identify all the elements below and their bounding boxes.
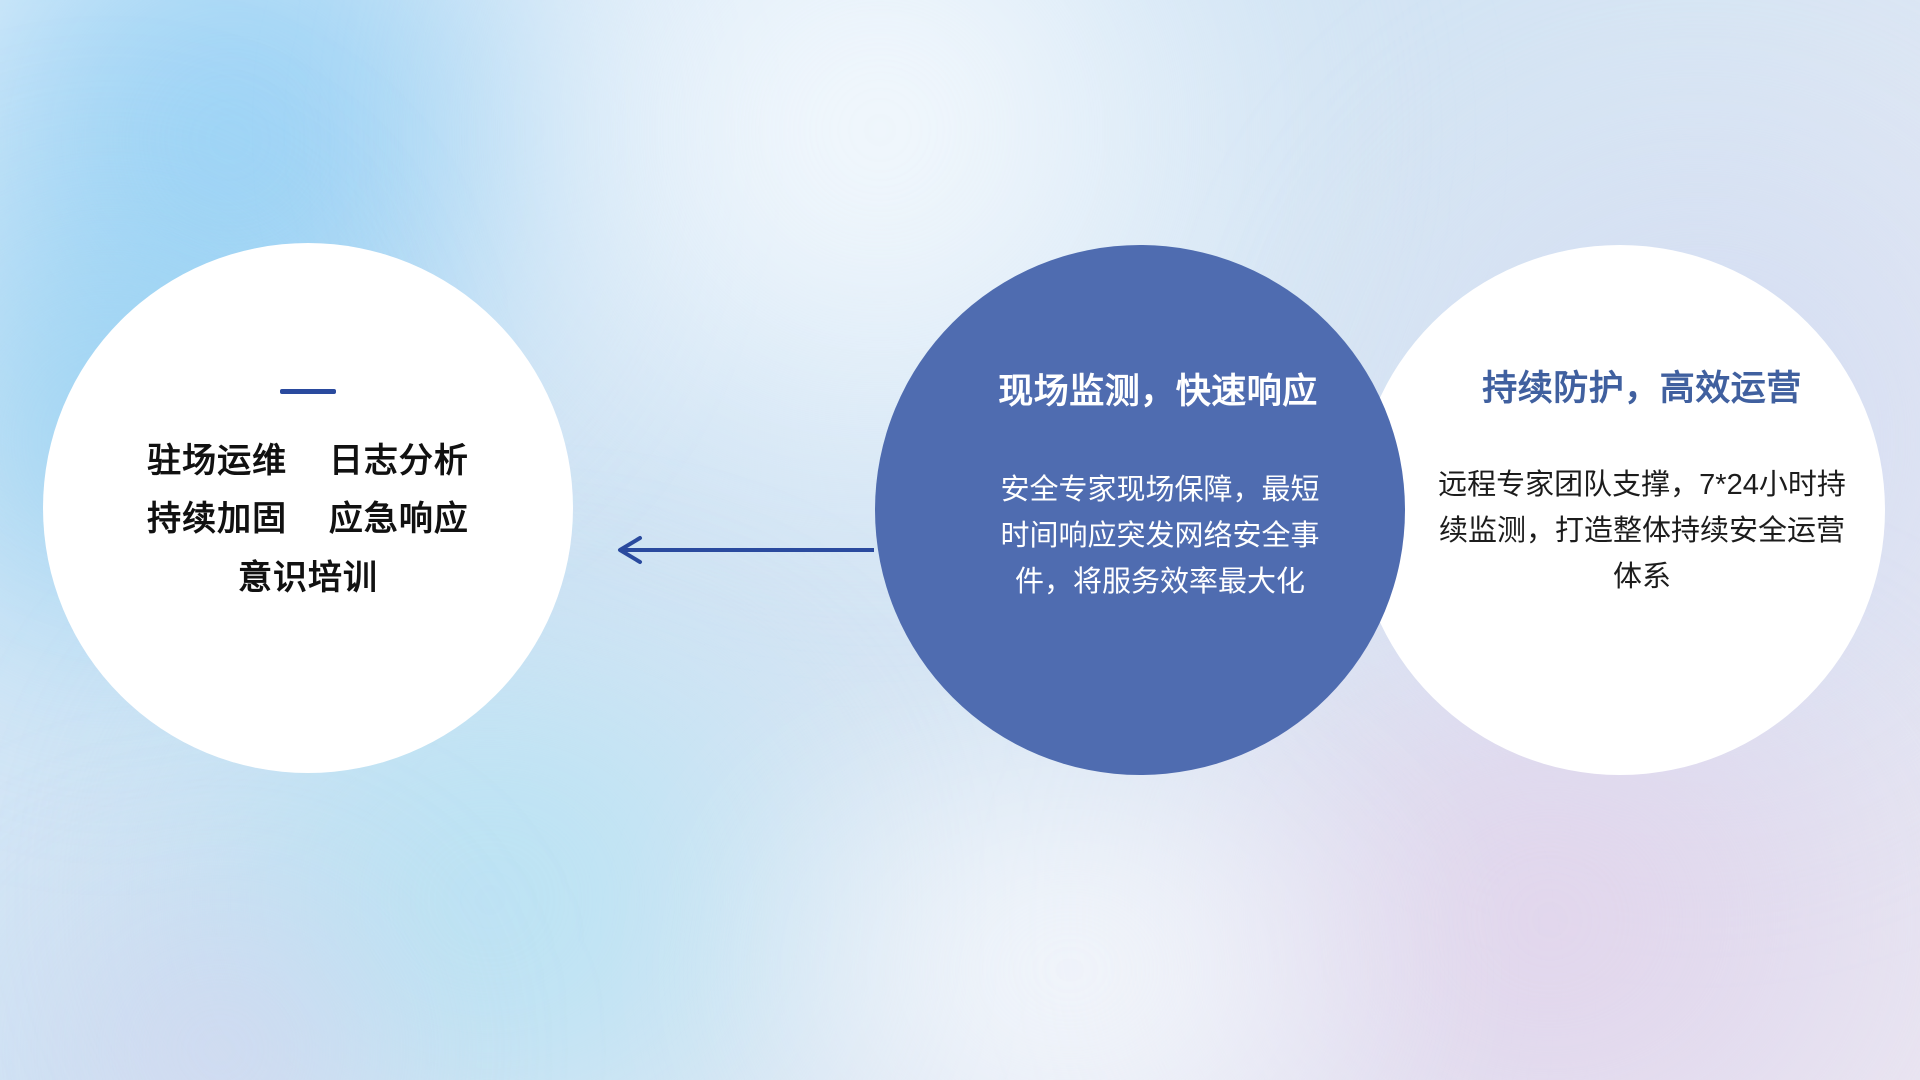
capability-list: 驻场运维 日志分析 持续加固 应急响应 意识培训 — [43, 432, 573, 607]
arrow-left-icon — [612, 530, 874, 570]
title-divider — [280, 389, 336, 394]
middle-circle-title: 现场监测，快速响应 — [998, 363, 1318, 414]
capability-line: 驻场运维 日志分析 — [43, 432, 573, 490]
connector-arrow — [612, 530, 874, 570]
middle-circle-body: 安全专家现场保障，最短时间响应突发网络安全事件，将服务效率最大化 — [995, 468, 1325, 605]
slide-canvas: 驻场运维 日志分析 持续加固 应急响应 意识培训 持续防护，高效运营 远程专家团… — [0, 0, 1920, 1080]
capability-circle-right[interactable]: 持续防护，高效运营 远程专家团队支撑，7*24小时持续监测，打造整体持续安全运营… — [1355, 245, 1885, 775]
capability-line: 持续加固 应急响应 — [43, 490, 573, 548]
capability-circle-middle[interactable]: 现场监测，快速响应 安全专家现场保障，最短时间响应突发网络安全事件，将服务效率最… — [875, 245, 1405, 775]
capability-line: 意识培训 — [43, 549, 573, 607]
right-circle-title: 持续防护，高效运营 — [1482, 360, 1802, 411]
capability-circle-left[interactable]: 驻场运维 日志分析 持续加固 应急响应 意识培训 — [43, 243, 573, 773]
right-circle-body: 远程专家团队支撑，7*24小时持续监测，打造整体持续安全运营体系 — [1432, 463, 1852, 600]
